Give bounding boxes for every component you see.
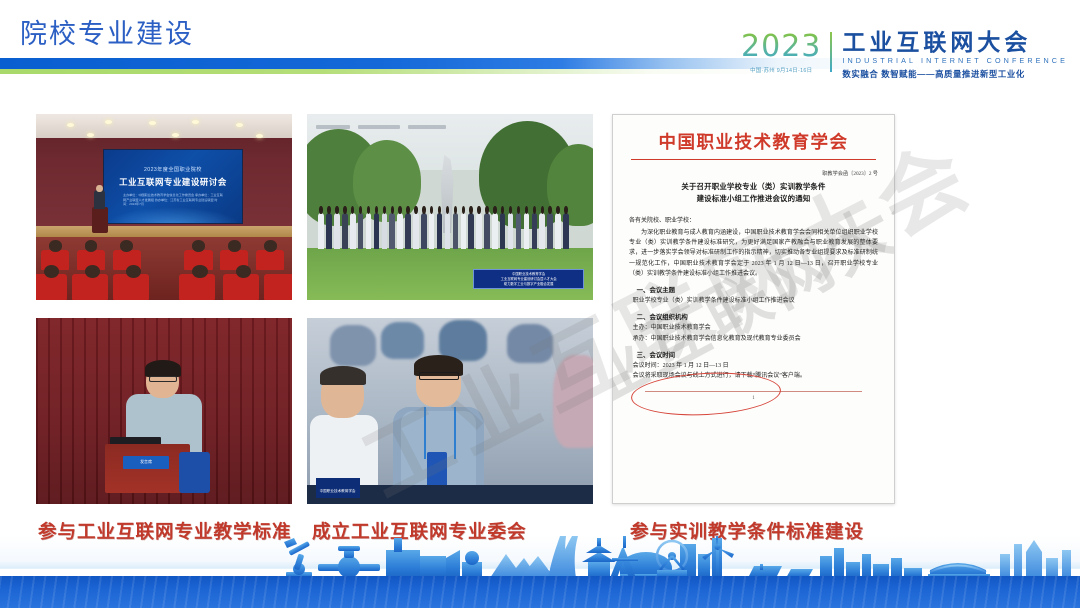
- seat: [72, 274, 108, 300]
- logo-name-cn: 工业互联网大会: [842, 30, 1068, 54]
- background-person: [553, 355, 593, 448]
- attendee-head: [236, 265, 251, 278]
- ceiling-lamp: [192, 120, 199, 124]
- speaker-scene: 发言席: [36, 318, 292, 504]
- background-person: [381, 322, 424, 359]
- pipeline-valve-icon: [318, 546, 380, 578]
- robot-arm-icon: [284, 538, 312, 578]
- seat: [223, 274, 259, 300]
- podium: [105, 444, 189, 492]
- far-skyline-icon: [1000, 540, 1071, 578]
- attendee-head: [228, 240, 241, 251]
- seat: [36, 274, 67, 300]
- document-heading-2: 二、会议组织机构: [637, 312, 878, 321]
- footer-water-band: [0, 576, 1080, 608]
- screen-line-1: 2023年度全国职业院校: [144, 166, 202, 173]
- stage-speaker: [94, 190, 106, 209]
- attendee-left-hair: [320, 366, 366, 385]
- attendee-head: [126, 265, 141, 278]
- ceiling-lamp: [172, 133, 179, 137]
- podium-nameplate-text: 发言席: [140, 459, 152, 465]
- attendee-head: [120, 240, 133, 251]
- ceiling-lamp: [105, 120, 112, 124]
- glasses-icon: [149, 376, 177, 382]
- document-subject-line-2: 建设标准小组工作推进会议的通知: [629, 193, 878, 205]
- glasses-icon: [419, 372, 459, 380]
- photo-group: 中国职业技术教育学会 工业互联网专业建设研讨会暨人才大会 助力数字工业与数字产业…: [307, 114, 593, 300]
- logo-year: 2023: [741, 32, 821, 62]
- document-scan: 工业互联网大会 中国职业技术教育学会 职教学会函〔2023〕2 号 关于召开职业…: [612, 114, 895, 504]
- stage-speaker-head: [96, 185, 102, 192]
- attendee-head: [264, 240, 277, 251]
- attendee-head: [85, 240, 98, 251]
- document-heading-2-line-1: 主办：中国职业技术教育学会: [633, 323, 878, 333]
- audience-caption-text: 中国职业技术教育学会: [320, 489, 356, 493]
- ceiling-lamp: [87, 133, 94, 137]
- document-heading-1-text: 职业学校专业（类）实训教学条件建设标准小组工作推进会议: [633, 296, 878, 306]
- document-number: 职教学会函〔2023〕2 号: [629, 170, 878, 177]
- screen-line-2: 工业互联网专业建设研讨会: [119, 176, 227, 188]
- document-subject-line-1: 关于召开职业学校专业（类）实训教学条件: [629, 181, 878, 193]
- document-body: 中国职业技术教育学会 职教学会函〔2023〕2 号 关于召开职业学校专业（类）实…: [629, 129, 878, 493]
- screen-wave-graphic: [104, 207, 243, 223]
- document-heading-3-line-2: 会议将采取现场会议与线上方式进行，请下载“腾讯会议”客户端。: [633, 371, 878, 381]
- logo-mark: [408, 125, 446, 129]
- attendee-head: [192, 240, 205, 251]
- attendee-head: [192, 265, 207, 278]
- group-caption-line-3: 助力数字工业与数字产业融合发展: [504, 282, 553, 286]
- document-salutation: 各有关院校、职业学校：: [629, 215, 878, 224]
- pagoda-icon: [582, 538, 616, 578]
- document-org-title: 中国职业技术教育学会: [629, 129, 878, 154]
- speaker-hair: [145, 360, 181, 377]
- document-heading-1: 一、会议主题: [637, 285, 878, 294]
- page-title: 院校专业建设: [20, 12, 194, 51]
- seat: [256, 250, 284, 270]
- photo-audience: 中国职业技术教育学会: [307, 318, 593, 504]
- document-heading-3-line-1: 会议时间：2023 年 1 月 12 日—13 日: [633, 361, 878, 371]
- screen-line-3: 主办单位：中国职业技术教育学会信息化工作委员会 承办单位：工业互联网产业联盟人才…: [123, 193, 223, 208]
- photo-top-logos: [316, 120, 488, 135]
- city-blocks-icon: [820, 548, 922, 578]
- audience-photo-caption: 中国职业技术教育学会: [316, 478, 360, 498]
- group-caption-line-1: 中国职业技术教育学会: [512, 272, 545, 276]
- seat: [264, 274, 292, 300]
- stage-screen: 2023年度全国职业院校 工业互联网专业建设研讨会 主办单位：中国职业技术教育学…: [103, 149, 244, 223]
- auditorium-scene: 2023年度全国职业院校 工业互联网专业建设研讨会 主办单位：中国职业技术教育学…: [36, 114, 292, 300]
- logo-mark: [316, 125, 350, 129]
- document-heading-2-line-2: 承办：中国职业技术教育学会信息化教育及现代教育专业委员会: [633, 334, 878, 344]
- logo-mark: [358, 125, 400, 129]
- group-crowd: [318, 213, 581, 260]
- logo-slogan: 数实融合 数智赋能——高质量推进新型工业化: [842, 68, 1068, 80]
- attendee-head: [49, 240, 62, 251]
- background-person: [507, 324, 553, 363]
- document-footer-rule: [645, 391, 862, 392]
- skyline-silhouette: [0, 536, 1080, 578]
- document-page-number: 1: [629, 396, 878, 401]
- group-caption-line-2: 工业互联网专业建设研讨会暨人才大会: [501, 277, 557, 281]
- logo-name-en: INDUSTRIAL INTERNET CONFERENCE: [842, 56, 1068, 65]
- audience-scene: 中国职业技术教育学会: [307, 318, 593, 504]
- document-heading-3: 三、会议时间: [637, 350, 878, 359]
- seat: [113, 274, 149, 300]
- background-person: [330, 325, 376, 366]
- document-title-rule: [631, 159, 876, 160]
- tree: [353, 140, 422, 222]
- attendee-head: [85, 265, 100, 278]
- logo-date: 中国·苏州 9月14日-16日: [750, 66, 812, 74]
- logo-year-block: 2023 中国·苏州 9月14日-16日: [741, 32, 830, 74]
- document-paragraph-1: 为深化职业教育与成人教育内涵建设，中国职业技术教育学会会同相关单位组织职业学校专…: [629, 228, 878, 280]
- footer-decoration: [0, 536, 1080, 608]
- auditorium-ceiling: [36, 114, 292, 138]
- slide-root: 院校专业建设 2023 中国·苏州 9月14日-16日 工业互联网大会 INDU…: [0, 0, 1080, 608]
- seat: [179, 274, 215, 300]
- group-photo-caption: 中国职业技术教育学会 工业互联网专业建设研讨会暨人才大会 助力数字工业与数字产业…: [473, 269, 585, 289]
- photo-auditorium: 2023年度全国职业院校 工业互联网专业建设研讨会 主办单位：中国职业技术教育学…: [36, 114, 292, 300]
- logo-name-block: 工业互联网大会 INDUSTRIAL INTERNET CONFERENCE 数…: [832, 30, 1068, 80]
- blue-chair: [179, 452, 210, 493]
- attendee-head: [44, 265, 59, 278]
- conference-logo: 2023 中国·苏州 9月14日-16日 工业互联网大会 INDUSTRIAL …: [741, 30, 1068, 84]
- stage-podium: [92, 207, 107, 233]
- group-scene: 中国职业技术教育学会 工业互联网专业建设研讨会暨人才大会 助力数字工业与数字产业…: [307, 114, 593, 300]
- factory-icon: [386, 538, 482, 578]
- photo-speaker: 发言席: [36, 318, 292, 504]
- podium-nameplate: 发言席: [123, 456, 169, 469]
